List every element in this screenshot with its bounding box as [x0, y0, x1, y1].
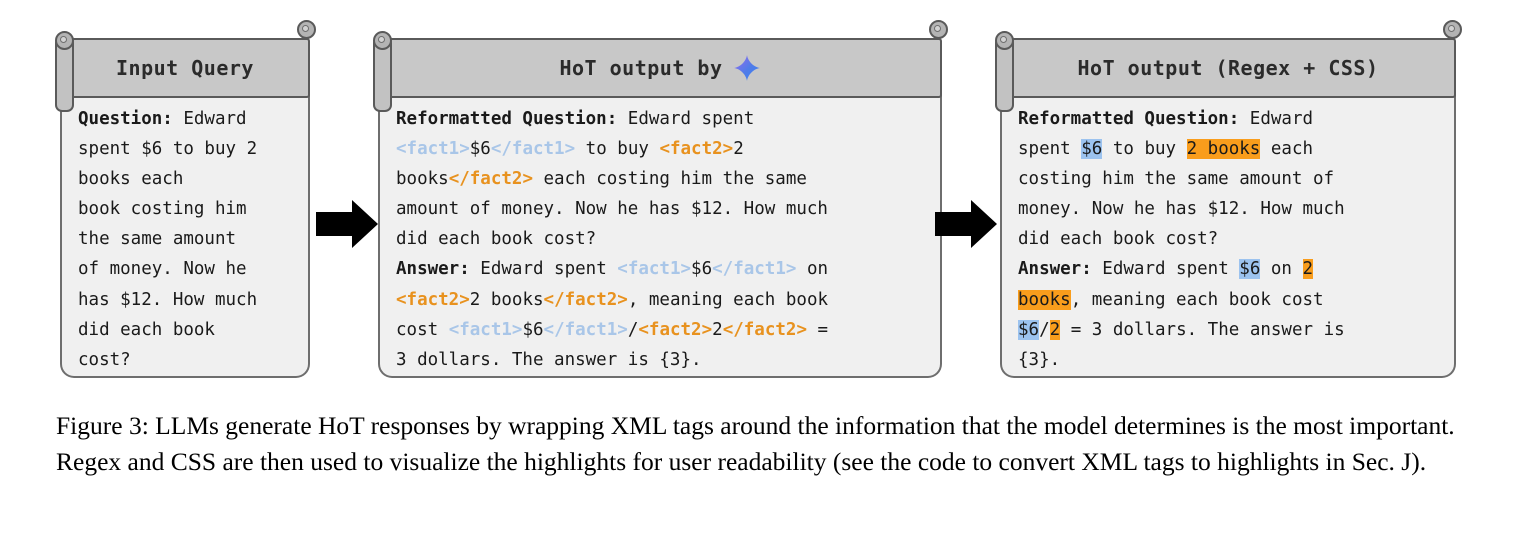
- fact2-close-tag: </fact2>: [449, 169, 533, 189]
- q-line-1: Edward: [173, 109, 247, 129]
- q-line-3: books each: [78, 169, 183, 189]
- card-hot-output-gemini: HoT output by Reformatted Question: Edwa…: [378, 28, 942, 378]
- card-title-hot-regex: HoT output (Regex + CSS): [1078, 56, 1379, 80]
- highlight-fact2: books: [1018, 290, 1071, 310]
- ans-seg-6: , meaning each book cost: [1071, 290, 1324, 310]
- card-header-hot-gemini: HoT output by: [378, 38, 942, 98]
- ans-seg-10: cost: [396, 320, 449, 340]
- scroll-curl-topright-icon: [1443, 20, 1462, 39]
- reformatted-question-label: Reformatted Question:: [1018, 109, 1239, 129]
- highlight-fact2: 2 books: [1187, 139, 1261, 159]
- fact1-open-tag: <fact1>: [449, 320, 523, 340]
- rq-seg-8: books: [396, 169, 449, 189]
- arrow-right-icon: [935, 196, 997, 252]
- cards-row: Input Query Question: Edward spent $6 to…: [0, 0, 1514, 395]
- rq-seg-4: to buy: [1102, 139, 1186, 159]
- ans-seg-12: $6: [522, 320, 543, 340]
- fact1-close-tag: </fact1>: [491, 139, 575, 159]
- scroll-curl-topleft-icon: [995, 31, 1014, 50]
- ans-seg-5: on: [796, 259, 828, 279]
- question-label: Question:: [78, 109, 173, 129]
- rq-seg-10: each costing him the same: [533, 169, 807, 189]
- highlight-fact1: $6: [1018, 320, 1039, 340]
- card-header-input-query: Input Query: [60, 38, 310, 98]
- fact2-open-tag: <fact2>: [396, 290, 470, 310]
- sparkle-icon: [733, 54, 761, 82]
- highlight-fact2: 2: [1050, 320, 1061, 340]
- fact2-close-tag: </fact2>: [723, 320, 807, 340]
- q-line-2: spent $6 to buy 2: [78, 139, 257, 159]
- q-line-9: cost?: [78, 350, 131, 370]
- ans-seg-16: 2: [712, 320, 723, 340]
- rq-seg-9: did each book cost?: [1018, 229, 1218, 249]
- highlight-fact2: 2: [1303, 259, 1314, 279]
- fact2-open-tag: <fact2>: [638, 320, 712, 340]
- ans-seg-9: , meaning each book: [628, 290, 828, 310]
- fact1-close-tag: </fact1>: [544, 320, 628, 340]
- card-hot-output-regex-css: HoT output (Regex + CSS) Reformatted Que…: [1000, 28, 1456, 378]
- rq-seg-12: did each book cost?: [396, 229, 596, 249]
- card-title-input-query: Input Query: [116, 56, 254, 80]
- rq-seg-7: 2: [733, 139, 744, 159]
- figure-caption: Figure 3: LLMs generate HoT responses by…: [56, 408, 1460, 480]
- ans-seg-7: 2 books: [470, 290, 544, 310]
- rq-seg-2: spent: [1018, 139, 1081, 159]
- scroll-curl-topleft-icon: [373, 31, 392, 50]
- ans-seg-3: $6: [691, 259, 712, 279]
- ans-seg-10: = 3 dollars. The answer is: [1060, 320, 1344, 340]
- arrow-right-icon: [316, 196, 378, 252]
- q-line-8: did each book: [78, 320, 215, 340]
- ans-seg-14: /: [628, 320, 639, 340]
- q-line-5: the same amount: [78, 229, 236, 249]
- rq-seg-5: to buy: [575, 139, 659, 159]
- fact2-close-tag: </fact2>: [544, 290, 628, 310]
- rq-seg-1: Edward: [1239, 109, 1313, 129]
- ans-seg-1: Edward spent: [1092, 259, 1240, 279]
- rq-seg-8: money. Now he has $12. How much: [1018, 199, 1345, 219]
- rq-seg-6: each: [1260, 139, 1313, 159]
- card-title-hot-gemini: HoT output by: [559, 54, 760, 82]
- card-body-hot-gemini: Reformatted Question: Edward spent <fact…: [378, 92, 942, 378]
- ans-seg-19: 3 dollars. The answer is {3}.: [396, 350, 702, 370]
- fact1-close-tag: </fact1>: [712, 259, 796, 279]
- scroll-curl-topright-icon: [297, 20, 316, 39]
- highlight-fact1: $6: [1239, 259, 1260, 279]
- hot-regex-text: Reformatted Question: Edward spent $6 to…: [1018, 104, 1440, 375]
- answer-label: Answer:: [396, 259, 470, 279]
- rq-seg-11: amount of money. Now he has $12. How muc…: [396, 199, 828, 219]
- ans-seg-18: =: [807, 320, 828, 340]
- card-header-hot-regex: HoT output (Regex + CSS): [1000, 38, 1456, 98]
- scroll-curl-topleft-icon: [55, 31, 74, 50]
- arrow-1: [316, 196, 378, 252]
- q-line-7: has $12. How much: [78, 290, 257, 310]
- fact2-open-tag: <fact2>: [659, 139, 733, 159]
- answer-label: Answer:: [1018, 259, 1092, 279]
- card-title-text: HoT output by: [559, 56, 722, 80]
- arrow-2: [935, 196, 997, 252]
- card-body-hot-regex: Reformatted Question: Edward spent $6 to…: [1000, 92, 1456, 378]
- ans-seg-8: /: [1039, 320, 1050, 340]
- rq-seg-7: costing him the same amount of: [1018, 169, 1334, 189]
- ans-seg-11: {3}.: [1018, 350, 1060, 370]
- input-query-text: Question: Edward spent $6 to buy 2 books…: [78, 104, 294, 375]
- reformatted-question-label: Reformatted Question:: [396, 109, 617, 129]
- card-input-query: Input Query Question: Edward spent $6 to…: [60, 28, 310, 378]
- scroll-curl-topright-icon: [929, 20, 948, 39]
- ans-seg-3: on: [1260, 259, 1302, 279]
- ans-seg-1: Edward spent: [470, 259, 618, 279]
- figure-container: Input Query Question: Edward spent $6 to…: [0, 0, 1514, 544]
- fact1-open-tag: <fact1>: [396, 139, 470, 159]
- hot-gemini-text: Reformatted Question: Edward spent <fact…: [396, 104, 926, 375]
- card-body-input-query: Question: Edward spent $6 to buy 2 books…: [60, 92, 310, 378]
- q-line-4: book costing him: [78, 199, 247, 219]
- rq-seg-3: $6: [470, 139, 491, 159]
- highlight-fact1: $6: [1081, 139, 1102, 159]
- q-line-6: of money. Now he: [78, 259, 247, 279]
- fact1-open-tag: <fact1>: [617, 259, 691, 279]
- rq-seg-1: Edward spent: [617, 109, 754, 129]
